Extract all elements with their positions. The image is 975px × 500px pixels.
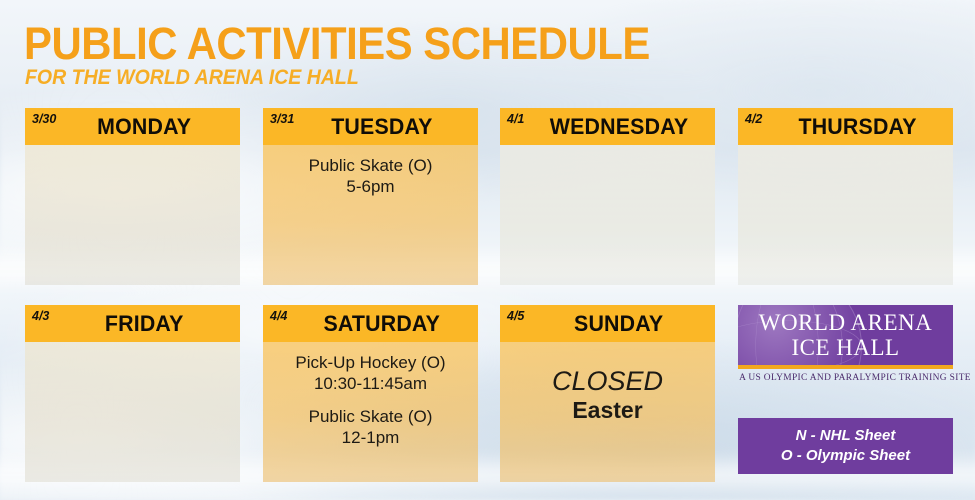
logo-plate: WORLD ARENA ICE HALL <box>738 305 953 365</box>
day-name: SUNDAY <box>551 311 664 337</box>
day-date: 3/31 <box>270 112 294 126</box>
event-time: 5-6pm <box>269 176 472 197</box>
day-name: WEDNESDAY <box>527 114 689 140</box>
closed-reason: Easter <box>506 396 709 424</box>
closed-label: CLOSED <box>506 366 709 396</box>
day-date: 3/30 <box>32 112 56 126</box>
logo-line-2: ICE HALL <box>791 335 899 360</box>
day-name: FRIDAY <box>82 311 184 337</box>
event-title: Public Skate (O) <box>269 155 472 176</box>
day-date: 4/5 <box>507 309 524 323</box>
legend-line-olympic: O - Olympic Sheet <box>781 446 910 466</box>
day-card-saturday[interactable]: 4/4SATURDAYPick-Up Hockey (O)10:30-11:45… <box>263 305 478 482</box>
event-entry: Pick-Up Hockey (O)10:30-11:45am <box>269 352 472 394</box>
day-card-header: 3/30MONDAY <box>25 108 240 145</box>
legend-line-nhl: N - NHL Sheet <box>796 426 896 446</box>
day-name: THURSDAY <box>775 114 916 140</box>
event-title: Public Skate (O) <box>269 406 472 427</box>
day-card-sunday[interactable]: 4/5SUNDAYCLOSEDEaster <box>500 305 715 482</box>
day-card-header: 4/1WEDNESDAY <box>500 108 715 145</box>
page-title: PUBLIC ACTIVITIES SCHEDULE <box>24 21 650 66</box>
day-card-thursday[interactable]: 4/2THURSDAY <box>738 108 953 285</box>
day-name: MONDAY <box>74 114 191 140</box>
day-card-monday[interactable]: 3/30MONDAY <box>25 108 240 285</box>
event-time: 10:30-11:45am <box>269 373 472 394</box>
day-card-header: 4/5SUNDAY <box>500 305 715 342</box>
day-name: TUESDAY <box>308 114 433 140</box>
day-card-wednesday[interactable]: 4/1WEDNESDAY <box>500 108 715 285</box>
schedule-poster: PUBLIC ACTIVITIES SCHEDULE FOR THE WORLD… <box>0 0 975 500</box>
event-time: 12-1pm <box>269 427 472 448</box>
day-card-body: Pick-Up Hockey (O)10:30-11:45amPublic Sk… <box>263 342 478 482</box>
day-card-tuesday[interactable]: 3/31TUESDAYPublic Skate (O)5-6pm <box>263 108 478 285</box>
logo-line-1: WORLD ARENA <box>759 311 933 335</box>
day-date: 4/4 <box>270 309 287 323</box>
day-card-body: Public Skate (O)5-6pm <box>263 145 478 285</box>
sheet-legend: N - NHL Sheet O - Olympic Sheet <box>738 418 953 474</box>
event-title: Pick-Up Hockey (O) <box>269 352 472 373</box>
day-date: 4/3 <box>32 309 49 323</box>
page-subtitle: FOR THE WORLD ARENA ICE HALL <box>25 67 359 89</box>
day-card-body <box>500 145 715 285</box>
logo-tagline: A US OLYMPIC AND PARALYMPIC TRAINING SIT… <box>739 369 952 383</box>
day-card-friday[interactable]: 4/3FRIDAY <box>25 305 240 482</box>
day-card-body <box>738 145 953 285</box>
day-card-header: 4/4SATURDAY <box>263 305 478 342</box>
day-card-header: 3/31TUESDAY <box>263 108 478 145</box>
day-card-body <box>25 342 240 482</box>
world-arena-logo: WORLD ARENA ICE HALL A US OLYMPIC AND PA… <box>738 305 953 383</box>
day-name: SATURDAY <box>301 311 441 337</box>
day-card-header: 4/2THURSDAY <box>738 108 953 145</box>
day-card-body: CLOSEDEaster <box>500 342 715 482</box>
event-entry: Public Skate (O)12-1pm <box>269 406 472 448</box>
day-date: 4/1 <box>507 112 524 126</box>
day-date: 4/2 <box>745 112 762 126</box>
day-card-header: 4/3FRIDAY <box>25 305 240 342</box>
event-entry: Public Skate (O)5-6pm <box>269 155 472 197</box>
day-card-body <box>25 145 240 285</box>
